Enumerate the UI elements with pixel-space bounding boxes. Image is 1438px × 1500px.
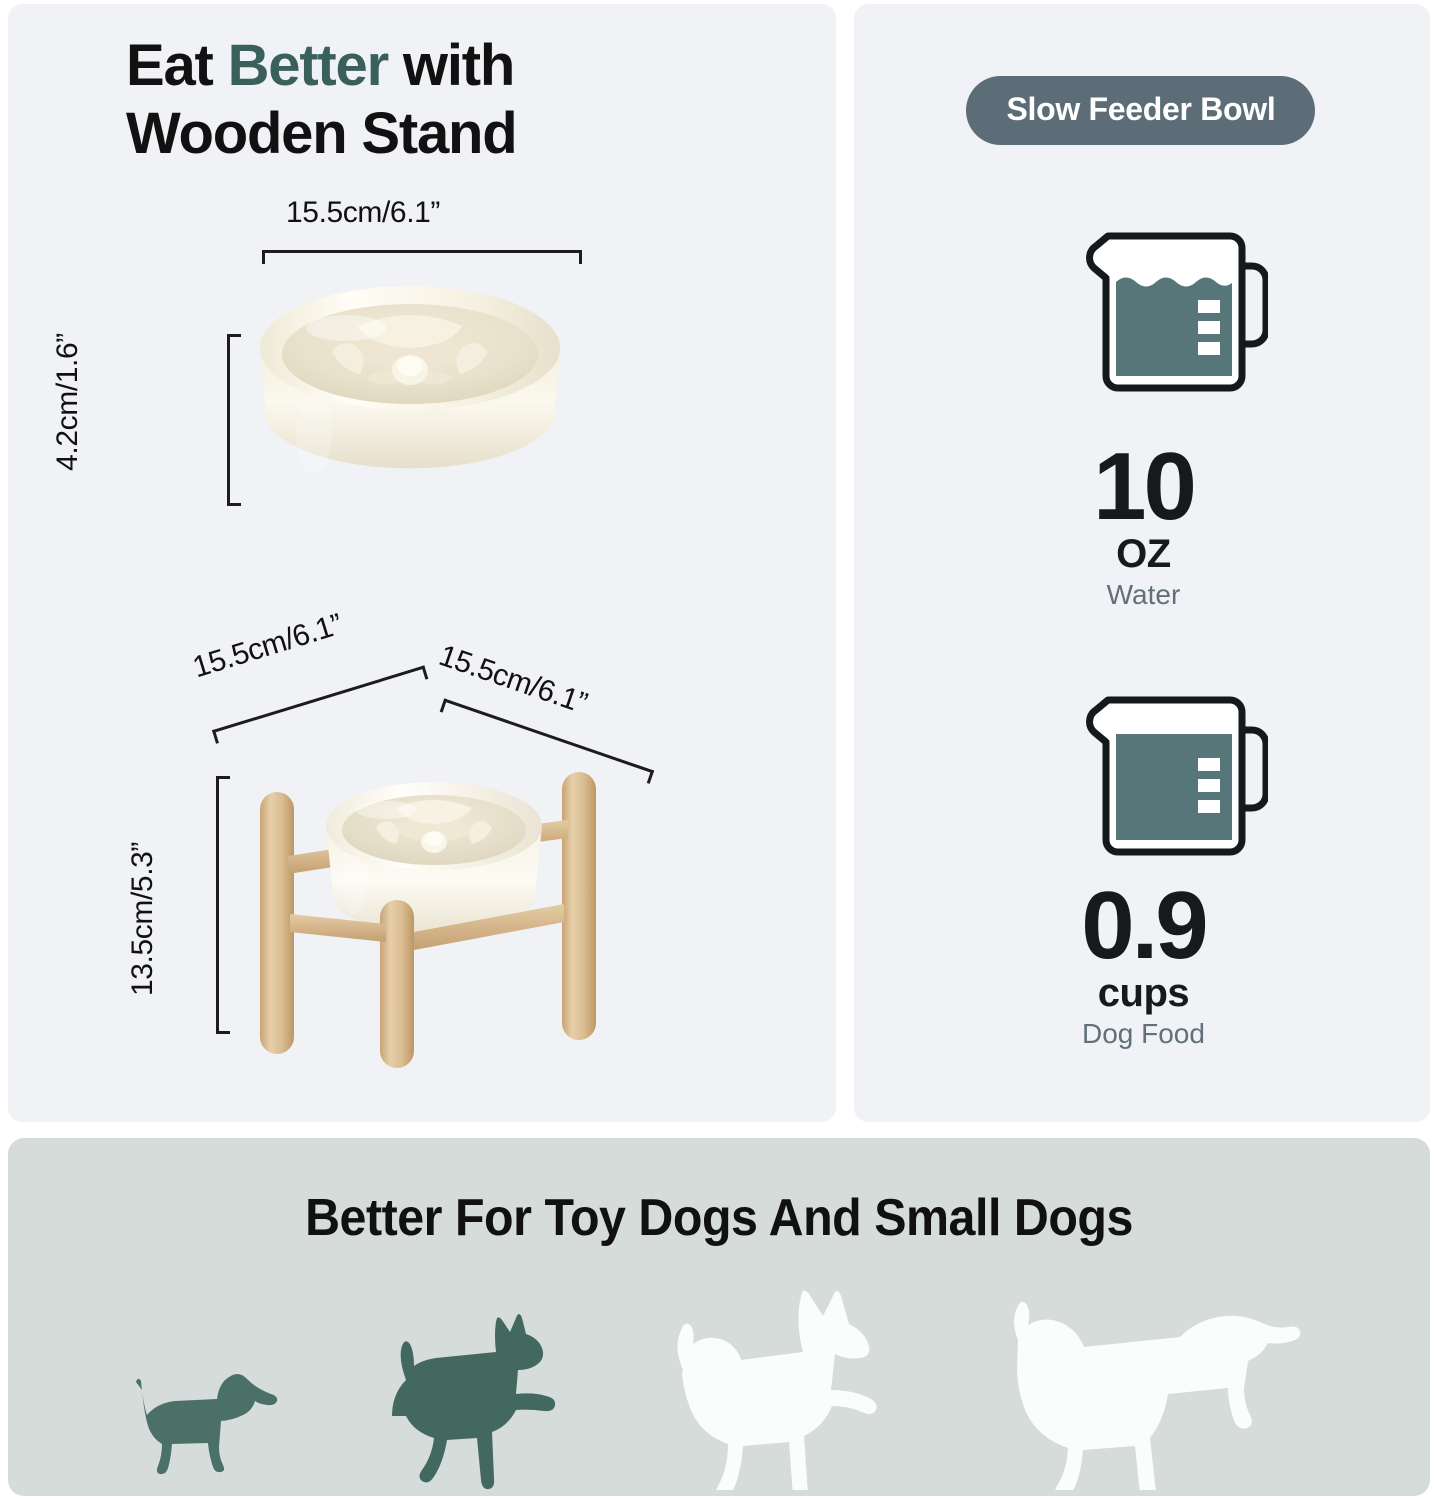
capacity-water: 10 OZ Water	[854, 441, 1432, 614]
stand-bowl-width-bracket-left	[212, 665, 428, 743]
banner-title: Better For Toy Dogs And Small Dogs	[58, 1188, 1380, 1248]
dog-size-row	[8, 1258, 1430, 1496]
title-accent-word: Better	[228, 33, 388, 98]
stand-bowl-width-label-left: 15.5cm/6.1”	[189, 608, 346, 686]
medium-dog-silhouette	[665, 1278, 915, 1490]
capacity-water-unit: OZ	[854, 533, 1432, 575]
slow-feeder-bowl-with-stand-image	[238, 764, 648, 1084]
capacity-water-value: 10	[854, 441, 1432, 533]
title-line-2: Wooden Stand	[126, 101, 517, 166]
capacity-panel: Slow Feeder Bowl 10 OZ Water	[854, 4, 1430, 1122]
capacity-food-caption: Dog Food	[854, 1016, 1432, 1052]
large-dog-silhouette	[1004, 1270, 1316, 1490]
title-part-1: Eat	[126, 33, 228, 98]
capacity-food: 0.9 cups Dog Food	[854, 880, 1432, 1053]
top-panels-row: Eat Better with Wooden Stand 15.5cm/6.1”…	[0, 0, 1438, 1125]
capacity-food-unit: cups	[854, 972, 1432, 1014]
page-title: Eat Better with Wooden Stand	[126, 32, 517, 169]
stand-height-label: 13.5cm/5.3”	[126, 842, 160, 996]
product-dimensions-panel: Eat Better with Wooden Stand 15.5cm/6.1”…	[8, 4, 836, 1122]
bowl-height-label: 4.2cm/1.6”	[51, 333, 85, 471]
toy-dog-silhouette	[123, 1340, 291, 1490]
small-dog-silhouette	[380, 1308, 576, 1490]
measuring-cup-food-icon	[1082, 690, 1268, 862]
capacity-food-value: 0.9	[854, 880, 1432, 972]
capacity-water-caption: Water	[854, 577, 1432, 613]
slow-feeder-bowl-image	[254, 282, 566, 512]
bowl-height-bracket	[227, 334, 241, 506]
status-badge: Slow Feeder Bowl	[966, 76, 1315, 145]
suitability-banner: Better For Toy Dogs And Small Dogs	[8, 1138, 1430, 1496]
stand-height-bracket	[216, 776, 230, 1034]
title-part-2: with	[388, 33, 514, 98]
bowl-width-label: 15.5cm/6.1”	[286, 196, 440, 230]
bowl-width-bracket	[262, 250, 582, 264]
measuring-cup-water-icon	[1082, 226, 1268, 398]
